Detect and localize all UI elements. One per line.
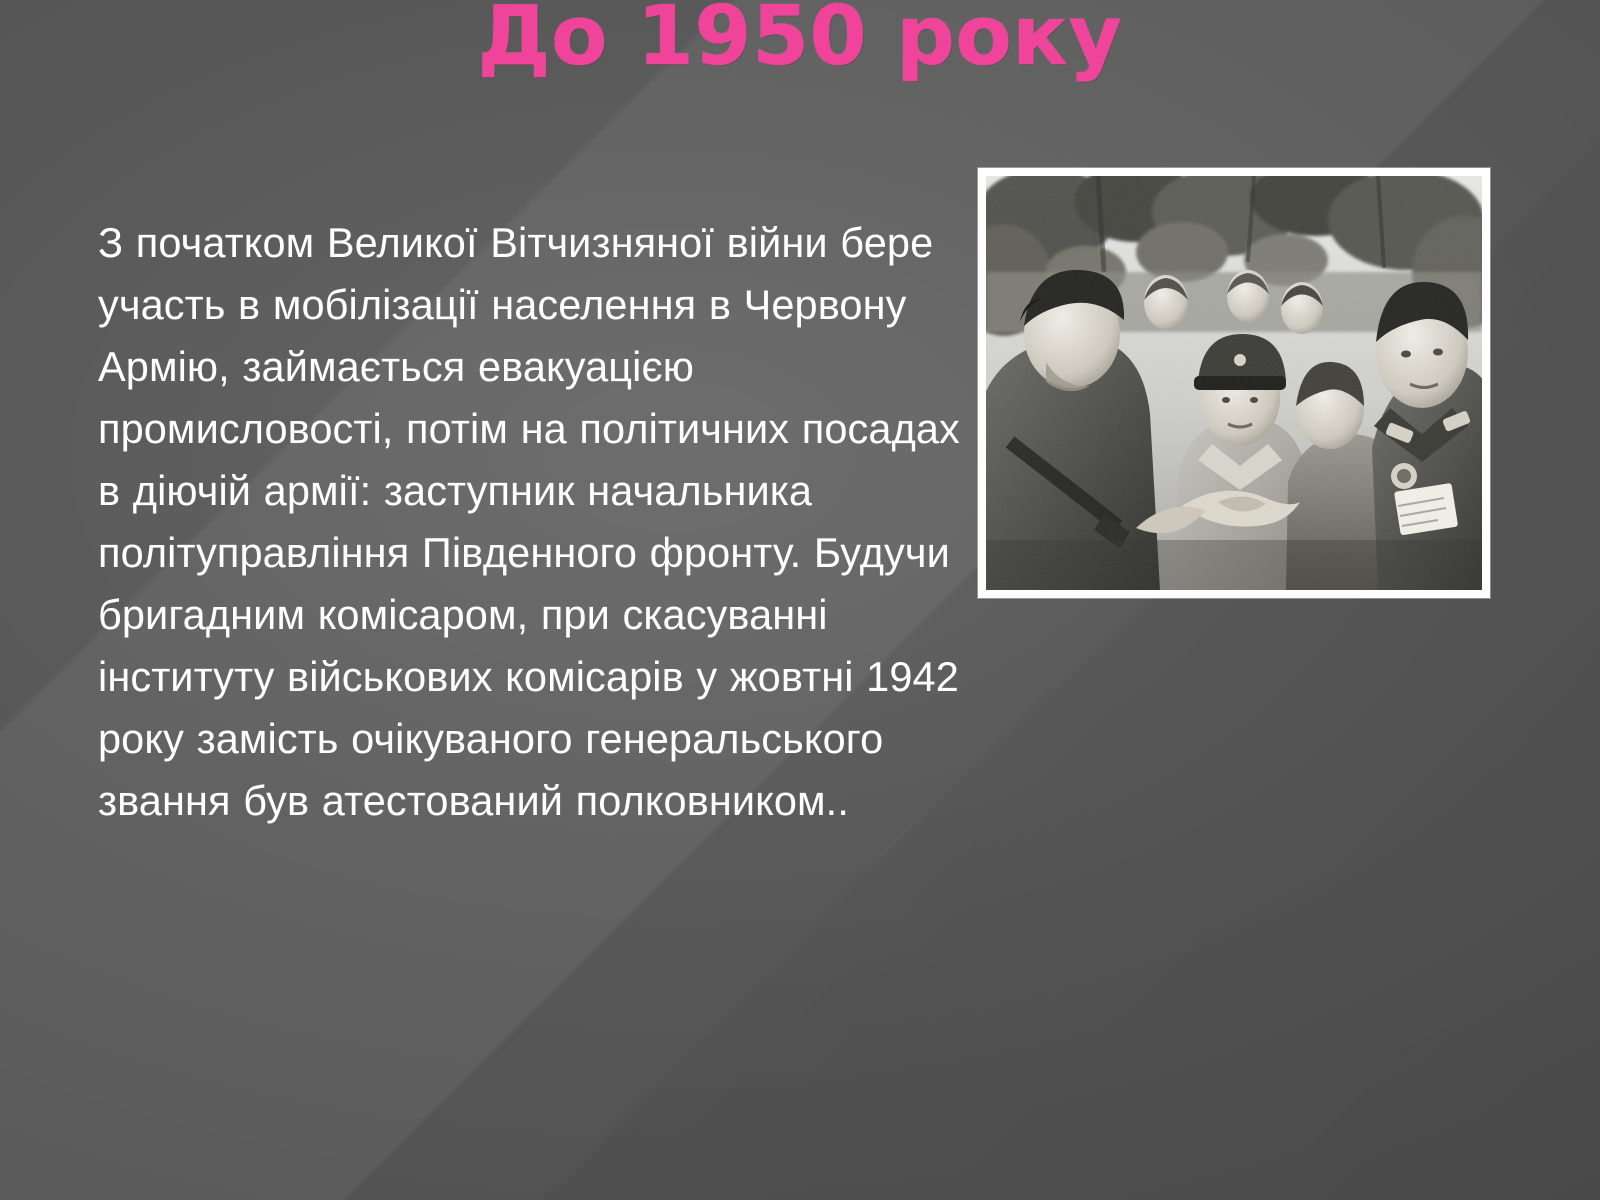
page-title: До 1950 року (478, 0, 1123, 78)
slide-body-text: З початком Великої Вітчизняної війни бер… (98, 212, 978, 832)
historical-photo (986, 176, 1482, 590)
photo-frame (978, 168, 1490, 598)
title-area: До 1950 року (0, 0, 1600, 92)
presentation-slide: До 1950 року З початком Великої Вітчизня… (0, 0, 1600, 1200)
